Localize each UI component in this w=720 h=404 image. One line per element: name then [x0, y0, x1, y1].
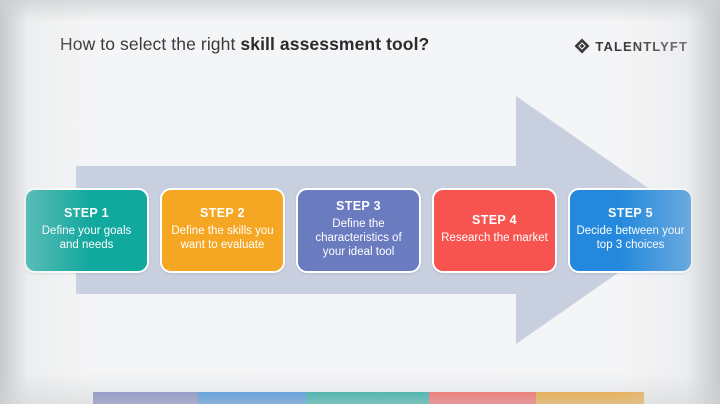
step-card-1[interactable]: STEP 1 Define your goals and needs — [24, 188, 149, 273]
step-description-4: Research the market — [441, 231, 548, 245]
accent-segment-2 — [198, 392, 306, 404]
step-card-4[interactable]: STEP 4 Research the market — [432, 188, 557, 273]
accent-segment-1 — [93, 392, 198, 404]
logo: TalentLyft — [574, 38, 688, 54]
step-title-3: STEP 3 — [336, 200, 381, 214]
logo-text: TalentLyft — [595, 39, 688, 54]
step-description-2: Define the skills you want to evaluate — [167, 224, 278, 252]
page-title-emphasis: skill assessment tool? — [240, 34, 429, 54]
step-card-2[interactable]: STEP 2 Define the skills you want to eva… — [160, 188, 285, 273]
step-title-1: STEP 1 — [64, 207, 109, 221]
step-description-1: Define your goals and needs — [31, 224, 142, 252]
step-description-3: Define the characteristics of your ideal… — [303, 217, 414, 259]
page-title-prefix: How to select the right — [60, 34, 240, 54]
step-title-5: STEP 5 — [608, 207, 653, 221]
diamond-icon — [574, 38, 590, 54]
color-accent-bar — [93, 392, 644, 404]
step-card-5[interactable]: STEP 5 Decide between your top 3 choices — [568, 188, 693, 273]
steps-row: STEP 1 Define your goals and needs STEP … — [24, 188, 693, 273]
accent-segment-3 — [306, 392, 429, 404]
page-title: How to select the right skill assessment… — [60, 34, 429, 55]
step-card-3[interactable]: STEP 3 Define the characteristics of you… — [296, 188, 421, 273]
slide-canvas: How to select the right skill assessment… — [0, 0, 720, 404]
accent-segment-4 — [429, 392, 537, 404]
step-title-4: STEP 4 — [472, 214, 517, 228]
accent-segment-5 — [536, 392, 644, 404]
step-title-2: STEP 2 — [200, 207, 245, 221]
step-description-5: Decide between your top 3 choices — [575, 224, 686, 252]
